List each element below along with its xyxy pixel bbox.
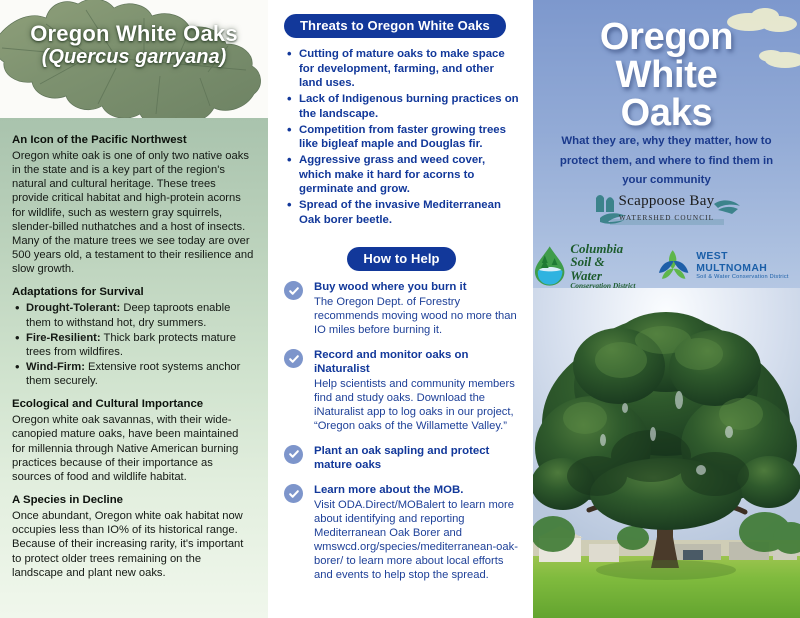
list-item: Cutting of mature oaks to make space for… <box>284 47 519 91</box>
help-item-title: Learn more about the MOB. <box>314 483 519 497</box>
help-heading: How to Help <box>347 247 455 271</box>
section-body-ecological: Oregon white oak savannas, with their wi… <box>12 413 254 484</box>
cover-title-line1: Oregon <box>533 18 800 56</box>
west-multnomah-text: WEST MULTNOMAH Soil & Water Conservation… <box>696 251 800 280</box>
logo-row-secondary: Columbia Soil & Water Conservation Distr… <box>533 242 800 289</box>
scappoose-logo-sub: WATERSHED COUNCIL <box>592 214 742 222</box>
adaptation-term: Fire-Resilient: <box>26 332 101 344</box>
help-heading-row: How to Help <box>284 247 519 271</box>
help-item-desc: Visit ODA.Direct/MOBalert to learn more … <box>314 498 519 583</box>
section-heading-decline: A Species in Decline <box>12 494 254 508</box>
left-panel-subtitle: (Quercus garryana) <box>0 46 268 68</box>
check-circle-icon <box>284 349 303 368</box>
columbia-logo-line3: Conservation District <box>570 282 638 290</box>
help-item-title: Record and monitor oaks on iNaturalist <box>314 348 519 377</box>
adaptation-term: Drought-Tolerant: <box>26 302 120 314</box>
section-heading-ecological: Ecological and Cultural Importance <box>12 398 254 412</box>
threats-heading-row: Threats to Oregon White Oaks <box>284 14 519 38</box>
cover-title-line2: White <box>533 56 800 94</box>
west-multnomah-line2: Soil & Water Conservation District <box>696 274 800 280</box>
adaptation-term: Wind-Firm: <box>26 361 85 373</box>
help-item-desc: Help scientists and community members fi… <box>314 377 519 433</box>
west-multnomah-line1: WEST MULTNOMAH <box>696 251 800 274</box>
help-item-mob: Learn more about the MOB. Visit ODA.Dire… <box>284 483 519 582</box>
check-circle-icon <box>284 445 303 464</box>
list-item: Competition from faster growing trees li… <box>284 123 519 152</box>
leaf-title-block: Oregon White Oaks (Quercus garryana) <box>0 22 268 68</box>
check-circle-icon <box>284 484 303 503</box>
list-item: Aggressive grass and weed cover, which m… <box>284 153 519 197</box>
threats-heading: Threats to Oregon White Oaks <box>284 14 506 38</box>
cover-title-line3: Oaks <box>533 94 800 132</box>
middle-panel: Threats to Oregon White Oaks Cutting of … <box>268 0 533 618</box>
logo-columbia-soil-water: Columbia Soil & Water Conservation Distr… <box>533 242 638 289</box>
water-drop-icon <box>533 245 566 287</box>
brochure-page: Oregon White Oaks (Quercus garryana) An … <box>0 0 800 618</box>
columbia-logo-line2: Soil & Water <box>570 255 638 282</box>
scappoose-logo-name: Scappoose Bay <box>592 194 742 209</box>
section-body-decline: Once abundant, Oregon white oak habitat … <box>12 509 254 580</box>
threats-list: Cutting of mature oaks to make space for… <box>284 47 519 227</box>
columbia-logo-text: Columbia Soil & Water Conservation Distr… <box>570 242 638 289</box>
oregon-white-oak-tree-photo <box>533 288 800 618</box>
list-item: Wind-Firm: Extensive root systems anchor… <box>12 360 254 388</box>
cover-title-block: Oregon White Oaks <box>533 18 800 132</box>
cover-subtitle: What they are, why they matter, how to p… <box>555 132 778 191</box>
help-item-buy-wood: Buy wood where you burn it The Oregon De… <box>284 280 519 337</box>
help-item-plant-sapling: Plant an oak sapling and protect mature … <box>284 444 519 473</box>
help-list: Buy wood where you burn it The Oregon De… <box>284 280 519 582</box>
list-item: Spread of the invasive Mediterranean Oak… <box>284 198 519 227</box>
logo-west-multnomah: WEST MULTNOMAH Soil & Water Conservation… <box>656 249 800 283</box>
help-item-title: Plant an oak sapling and protect mature … <box>314 444 519 473</box>
list-item: Drought-Tolerant: Deep taproots enable t… <box>12 301 254 329</box>
help-item-inaturalist: Record and monitor oaks on iNaturalist H… <box>284 348 519 433</box>
columbia-logo-line1: Columbia <box>570 242 638 255</box>
partner-logos: Scappoose Bay WATERSHED COUNCIL <box>533 192 800 289</box>
section-heading-icon-pnw: An Icon of the Pacific Northwest <box>12 134 254 148</box>
help-item-title: Buy wood where you burn it <box>314 280 519 294</box>
list-item: Lack of Indigenous burning practices on … <box>284 92 519 121</box>
check-circle-icon <box>284 281 303 300</box>
list-item: Fire-Resilient: Thick bark protects matu… <box>12 331 254 359</box>
logo-scappoose-bay-watershed-council: Scappoose Bay WATERSHED COUNCIL <box>592 192 742 232</box>
help-item-desc: The Oregon Dept. of Forestry recommends … <box>314 295 519 337</box>
three-leaves-icon <box>656 249 691 283</box>
left-panel: Oregon White Oaks (Quercus garryana) An … <box>0 0 268 618</box>
section-heading-adaptations: Adaptations for Survival <box>12 286 254 300</box>
left-panel-body: An Icon of the Pacific Northwest Oregon … <box>0 118 268 618</box>
right-panel-cover: Oregon White Oaks What they are, why the… <box>533 0 800 618</box>
left-panel-title: Oregon White Oaks <box>0 22 268 46</box>
adaptations-list: Drought-Tolerant: Deep taproots enable t… <box>12 301 254 388</box>
section-body-icon-pnw: Oregon white oak is one of only two nati… <box>12 149 254 277</box>
